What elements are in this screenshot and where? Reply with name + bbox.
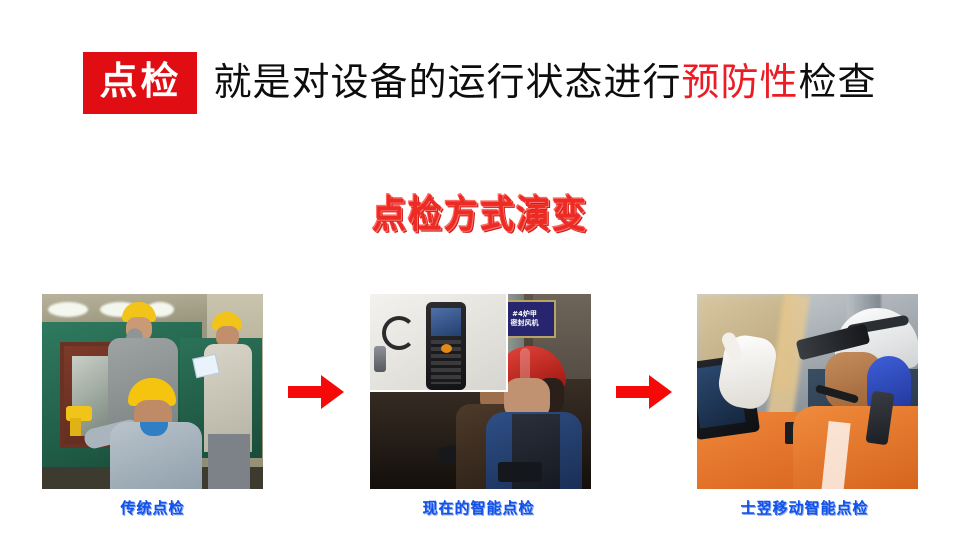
photo-traditional-inspection (42, 294, 263, 489)
right-worker-orange-suit (793, 406, 918, 489)
headline-row: 点检 就是对设备的运行状态进行预防性检查 (0, 48, 960, 118)
right-arrow-icon (616, 375, 672, 409)
equipment-sign-line2: 密封风机 (511, 320, 539, 327)
section-subtitle: 点检方式演变 (372, 196, 588, 234)
slide-root: 点检 就是对设备的运行状态进行预防性检查 点检方式演变 (0, 0, 960, 533)
evolution-flow: #4炉甲 密封风机 (42, 294, 918, 489)
pda-screen (431, 308, 461, 336)
caption-traditional: 传统点检 (42, 498, 263, 519)
headline-highlight: 预防性 (682, 62, 799, 104)
arrow-shaft (616, 386, 652, 398)
pda-device-inset-photo (370, 294, 508, 392)
headline-tag-badge: 点检 (83, 52, 197, 114)
handheld-pda-in-use (498, 462, 542, 482)
subtitle-row: 点检方式演变 (0, 196, 960, 230)
photo-shiyi-mobile-smart-inspection (697, 294, 918, 489)
arrow-head (649, 375, 672, 409)
page-title: 就是对设备的运行状态进行预防性检查 (213, 64, 876, 102)
headline-text-after: 检查 (799, 62, 877, 104)
sensor-cable (382, 316, 416, 350)
arrow-head (321, 375, 344, 409)
photo-current-smart-inspection: #4炉甲 密封风机 (370, 294, 591, 489)
pda-navigation-key (441, 344, 452, 353)
ceiling-lamp (48, 302, 88, 317)
caption-current-smart: 现在的智能点检 (368, 498, 589, 519)
vibration-probe (374, 346, 386, 372)
worker-b-legs (208, 434, 250, 489)
headline-text-before: 就是对设备的运行状态进行 (213, 62, 681, 104)
arrow-shaft (288, 386, 324, 398)
caption-row: 传统点检 现在的智能点检 士翌移动智能点检 (0, 498, 960, 526)
equipment-sign-line1: #4炉甲 (512, 311, 537, 318)
right-arrow-icon (288, 375, 344, 409)
pda-handheld-terminal (426, 302, 466, 390)
caption-shiyi-mobile-smart: 士翌移动智能点检 (694, 498, 915, 519)
infrared-thermometer-grip (70, 418, 81, 436)
